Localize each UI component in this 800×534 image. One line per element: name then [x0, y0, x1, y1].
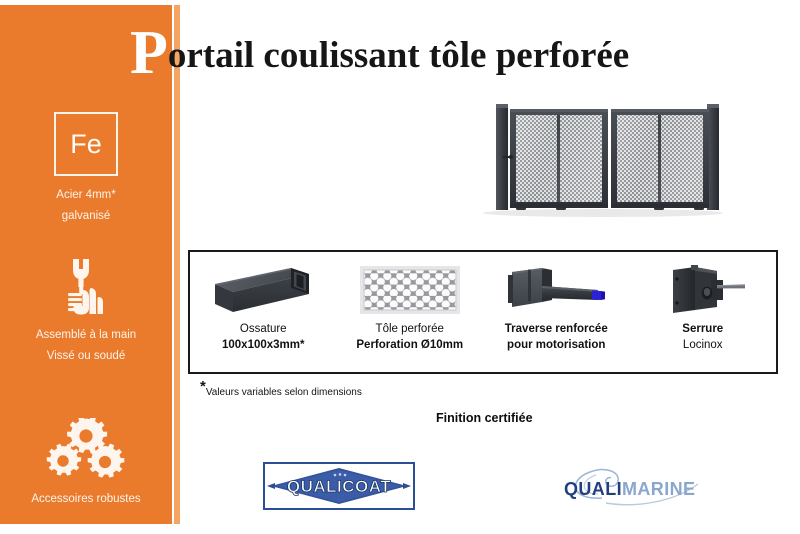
footnote: *Valeurs variables selon dimensions — [200, 378, 362, 398]
feature-spec: 100x100x3mm* — [222, 337, 305, 353]
qualicoat-wordmark: QUALICOAT — [287, 477, 391, 496]
sidebar-item-label: Accessoires robustes — [0, 489, 172, 510]
feature-spec: Locinox — [683, 337, 723, 353]
reinforced-crossbar-icon — [498, 259, 614, 321]
footnote-text: Valeurs variables selon dimensions — [206, 387, 362, 398]
sidebar-item-label: Assemblé à la main — [0, 325, 172, 346]
features-row: Ossature 100x100x3mm* — [190, 252, 776, 372]
fe-symbol-label: Fe — [70, 131, 102, 158]
fe-element-box-icon: Fe — [54, 112, 118, 176]
sidebar-accent-stripe — [174, 5, 180, 524]
page-title-rest: ortail coulissant tôle perforée — [168, 35, 629, 76]
gate-product-photo — [478, 100, 728, 220]
feature-ossature: Ossature 100x100x3mm* — [190, 252, 337, 372]
reinforced-crossbar-art — [498, 262, 614, 318]
gears-icon — [45, 418, 127, 480]
sidebar-item-assemblage: Assemblé à la main Vissé ou soudé — [0, 256, 172, 367]
sidebar-item-label: Acier 4mm* — [0, 185, 172, 206]
qualimarine-wordmark-primary: QUALI — [564, 479, 622, 499]
feature-spec: Perforation Ø10mm — [356, 337, 463, 353]
page-title: Portail coulissant tôle perforée — [130, 28, 629, 78]
gate-leaf-left — [510, 109, 608, 208]
steel-profile-icon — [209, 259, 317, 321]
feature-title: Tôle perforée — [376, 321, 444, 337]
feature-traverse-renforcee: Traverse renforcée pour motorisation — [483, 252, 630, 372]
sidebar-item-sublabel: galvanisé — [0, 206, 172, 227]
finition-certifiee-label: Finition certifiée — [436, 411, 533, 425]
sidebar-item-sublabel: Vissé ou soudé — [0, 346, 172, 367]
hand-holding-wrench-icon — [58, 256, 114, 316]
steel-profile-art — [209, 262, 317, 318]
perforated-sheet-icon — [358, 259, 462, 321]
feature-title: Serrure — [682, 321, 723, 337]
features-panel: Ossature 100x100x3mm* — [188, 250, 778, 374]
feature-title: Ossature — [240, 321, 287, 337]
qualicoat-logo: QUALICOAT — [263, 462, 415, 510]
feature-tole-perforee: Tôle perforée Perforation Ø10mm — [337, 252, 484, 372]
sliding-gate-illustration — [478, 100, 728, 220]
qualimarine-wordmark-secondary: MARINE — [622, 479, 695, 499]
datasheet-page: Fe Acier 4mm* galvanisé Assemblé à la ma… — [0, 0, 800, 534]
feature-serrure: Serrure Locinox — [630, 252, 777, 372]
sidebar-item-acier: Fe Acier 4mm* galvanisé — [0, 112, 172, 227]
feature-title: Traverse renforcée — [505, 321, 608, 337]
qualimarine-logo-art: QUALI MARINE — [558, 464, 708, 510]
page-title-initial: P — [130, 19, 168, 87]
lock-icon — [655, 259, 751, 321]
qualicoat-logo-art: QUALICOAT — [265, 464, 413, 508]
qualimarine-logo: QUALI MARINE — [558, 464, 708, 510]
perforated-sheet-art — [358, 262, 462, 318]
gate-leaf-right — [611, 109, 709, 208]
lock-art — [655, 262, 751, 318]
feature-spec: pour motorisation — [507, 337, 605, 353]
sidebar-item-accessoires: Accessoires robustes — [0, 418, 172, 510]
